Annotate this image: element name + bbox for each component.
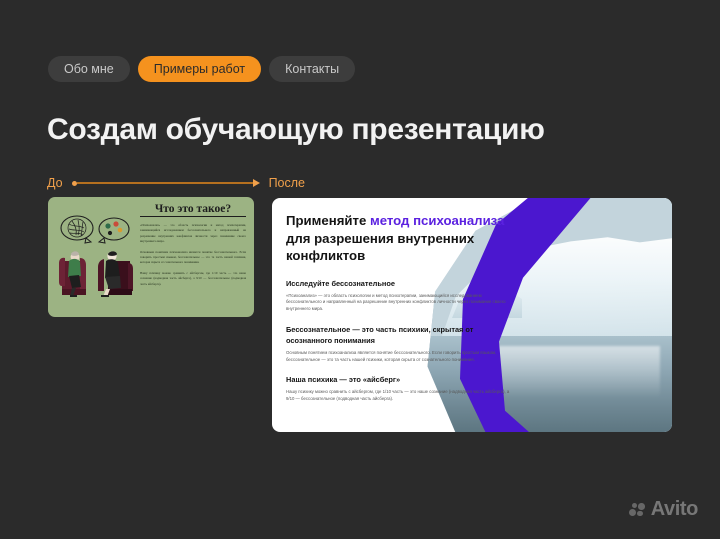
slide-before-paragraph-3: Нашу психику можно сравнить с айсбергом,… — [140, 271, 246, 287]
rail-connector — [72, 178, 260, 188]
page-root: Обо мне Примеры работ Контакты Создам об… — [0, 0, 720, 539]
slide-before-paragraph-1: «Психоанализ» — это область психологии и… — [140, 223, 246, 245]
section-body: Нашу психику можно сравнить с айсбергом,… — [286, 389, 510, 403]
section-body: Основным понятием психоанализа является … — [286, 350, 510, 364]
slide-after-section: Бессознательное — это часть психики, скр… — [286, 325, 510, 363]
after-label: После — [269, 176, 305, 190]
tab-portfolio[interactable]: Примеры работ — [138, 56, 261, 82]
tab-about[interactable]: Обо мне — [48, 56, 130, 82]
heading-part-2: для разрешения внутренних конфликтов — [286, 231, 474, 264]
section-title: Исследуйте бессознательное — [286, 279, 510, 289]
slide-after-heading: Применяйте метод психоанализа для разреш… — [286, 212, 510, 265]
slide-before-heading: Что это такое? — [140, 203, 246, 217]
slide-before-text: Что это такое? «Психоанализ» — это облас… — [140, 203, 246, 292]
rail-bar — [77, 182, 253, 184]
section-title: Наша психика — это «айсберг» — [286, 375, 510, 385]
avito-watermark: Avito — [629, 498, 698, 521]
slide-after-section: Исследуйте бессознательное «Психоанализ»… — [286, 279, 510, 314]
two-people-armchairs-illustration — [56, 211, 136, 303]
before-label: До — [47, 176, 63, 190]
section-body: «Психоанализ» — это область психологии и… — [286, 293, 510, 314]
slide-after-section: Наша психика — это «айсберг» Нашу психик… — [286, 375, 510, 403]
slide-before[interactable]: Что это такое? «Психоанализ» — это облас… — [48, 197, 254, 317]
tab-bar: Обо мне Примеры работ Контакты — [48, 56, 355, 82]
slide-after[interactable]: Применяйте метод психоанализа для разреш… — [272, 198, 672, 432]
avito-logo-icon — [629, 502, 646, 517]
slide-after-text: Применяйте метод психоанализа для разреш… — [286, 212, 510, 415]
tab-contacts[interactable]: Контакты — [269, 56, 355, 82]
avito-wordmark: Avito — [651, 498, 698, 521]
slide-before-paragraph-2: Основным понятием психоанализа является … — [140, 250, 246, 266]
arrow-right-icon — [253, 179, 260, 187]
section-title: Бессознательное — это часть психики, скр… — [286, 325, 510, 346]
heading-accent: метод психоанализа — [370, 213, 504, 228]
heading-part-1: Применяйте — [286, 213, 370, 228]
before-after-rail: До После — [47, 176, 305, 190]
page-title: Создам обучающую презентацию — [47, 113, 545, 147]
